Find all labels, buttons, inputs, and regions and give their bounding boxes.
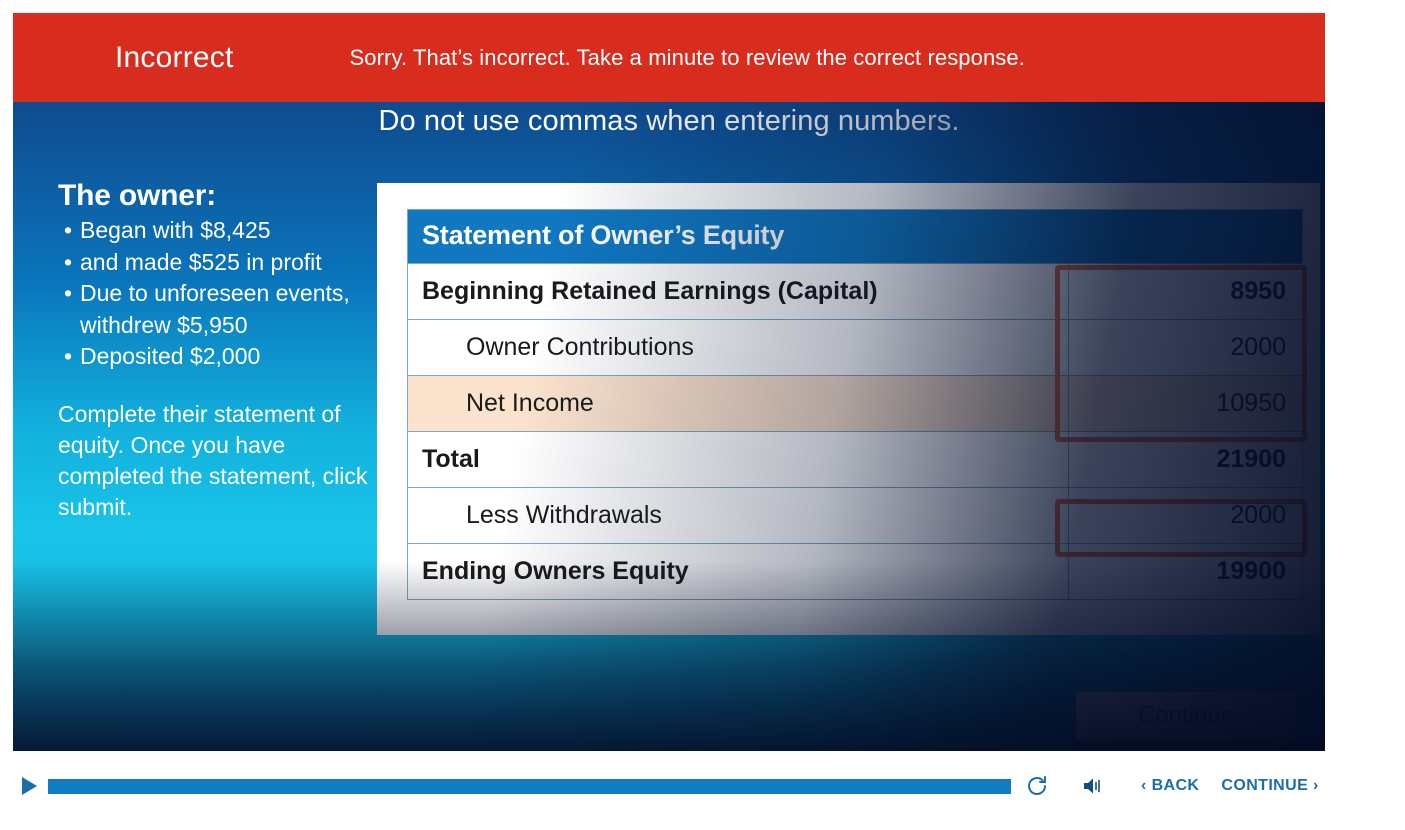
instruction-bullet-list: • Began with $8,425 • and made $525 in p… (58, 215, 368, 373)
table-row: Owner Contributions 2000 (408, 320, 1303, 376)
table-row: Less Withdrawals 2000 (408, 488, 1303, 544)
volume-icon[interactable] (1081, 775, 1105, 797)
statement-card: Statement of Owner’s Equity Beginning Re… (377, 183, 1320, 635)
table-row: Beginning Retained Earnings (Capital) 89… (408, 264, 1303, 320)
screenshot-root: Do not use commas when entering numbers.… (0, 0, 1405, 830)
list-item-label: Deposited $2,000 (80, 343, 260, 369)
row-label: Net Income (408, 376, 1069, 432)
list-item: • Began with $8,425 (58, 215, 368, 247)
row-label: Ending Owners Equity (408, 544, 1069, 600)
list-item-label: Due to unforeseen events, withdrew $5,95… (80, 280, 350, 338)
progress-scrubber[interactable] (48, 779, 1011, 794)
slide-canvas: Do not use commas when entering numbers.… (13, 13, 1325, 751)
incorrect-feedback-banner: Incorrect Sorry. That’s incorrect. Take … (13, 13, 1325, 102)
bullet-icon: • (64, 215, 72, 247)
bullet-icon: • (64, 341, 72, 373)
progress-fill (48, 779, 1011, 794)
table-row: Ending Owners Equity 19900 (408, 544, 1303, 600)
row-value-input[interactable]: 2000 (1069, 320, 1303, 376)
list-item-label: and made $525 in profit (80, 249, 322, 275)
player-control-bar: ‹ BACK CONTINUE › (0, 766, 1405, 806)
bullet-icon: • (64, 247, 72, 279)
instruction-panel: The owner: • Began with $8,425 • and mad… (58, 179, 368, 523)
continue-nav-button[interactable]: CONTINUE › (1221, 777, 1318, 795)
feedback-message: Sorry. That’s incorrect. Take a minute t… (350, 45, 1025, 71)
row-label: Owner Contributions (408, 320, 1069, 376)
play-icon[interactable] (22, 777, 37, 795)
row-label: Total (408, 432, 1069, 488)
row-value-input[interactable]: 10950 (1069, 376, 1303, 432)
row-label: Less Withdrawals (408, 488, 1069, 544)
slide-headline: Do not use commas when entering numbers. (13, 105, 1325, 138)
back-button[interactable]: ‹ BACK (1141, 777, 1199, 795)
table-header-row: Statement of Owner’s Equity (408, 210, 1303, 264)
table-title: Statement of Owner’s Equity (408, 210, 1303, 264)
table-row: Total 21900 (408, 432, 1303, 488)
feedback-status-title: Incorrect (115, 41, 234, 75)
row-value-input[interactable]: 2000 (1069, 488, 1303, 544)
instruction-paragraph: Complete their statement of equity. Once… (58, 399, 368, 523)
table-row: Net Income 10950 (408, 376, 1303, 432)
row-value: 19900 (1069, 544, 1303, 600)
row-value-input[interactable]: 8950 (1069, 264, 1303, 320)
bullet-icon: • (64, 278, 72, 310)
list-item: • Deposited $2,000 (58, 341, 368, 373)
statement-of-owners-equity-table: Statement of Owner’s Equity Beginning Re… (407, 209, 1303, 600)
row-label: Beginning Retained Earnings (Capital) (408, 264, 1069, 320)
list-item-label: Began with $8,425 (80, 217, 271, 243)
row-value: 21900 (1069, 432, 1303, 488)
list-item: • Due to unforeseen events, withdrew $5,… (58, 278, 368, 341)
continue-button[interactable]: Continue (1075, 691, 1297, 741)
list-item: • and made $525 in profit (58, 247, 368, 279)
instruction-title: The owner: (58, 179, 368, 213)
replay-icon[interactable] (1025, 774, 1049, 798)
